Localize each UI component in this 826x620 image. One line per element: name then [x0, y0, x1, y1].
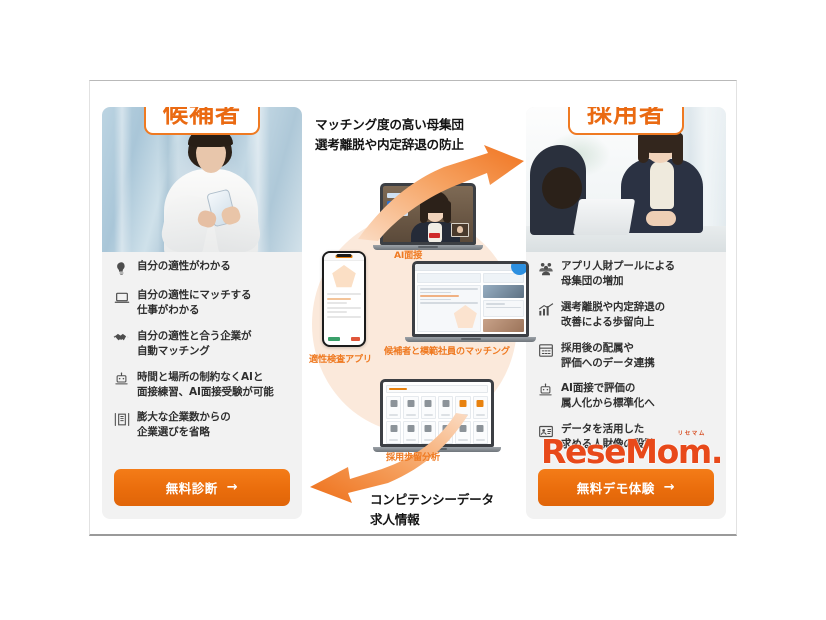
list-item: 選考離脱や内定辞退の 改善による歩留向上	[537, 300, 716, 330]
center-heading: マッチング度の高い母集団 選考離脱や内定辞退の防止	[315, 115, 464, 156]
text-line	[327, 307, 361, 309]
list-item: データを活用した 求める人財像の設計	[537, 422, 716, 452]
text-line	[420, 288, 478, 290]
app-secondary-button	[351, 337, 360, 341]
cta-label: 無料デモ体験	[577, 478, 655, 497]
photo-shape-hair-left	[638, 133, 649, 163]
photo-shape-candidate-head	[542, 167, 582, 209]
window-panel-icon	[537, 342, 554, 359]
radar-chart-shape	[454, 305, 477, 328]
list-item-text: 選考離脱や内定辞退の 改善による歩留向上	[561, 300, 665, 330]
caption-aptitude-app: 適性検査アプリ	[309, 351, 372, 365]
list-item: 膨大な企業数からの 企業選びを省略	[113, 410, 292, 440]
candidate-feature-list: 自分の適性がわかる 自分の適性にマッチする 仕事がわかる	[102, 259, 302, 451]
dashboard-thumbnail	[483, 319, 524, 332]
app-result-rows	[324, 291, 364, 323]
text-line	[327, 293, 361, 295]
dashboard-text-lines	[486, 303, 521, 310]
list-item-text: 自分の適性にマッチする 仕事がわかる	[137, 288, 251, 318]
robot-icon	[537, 382, 554, 399]
text-line	[327, 316, 361, 318]
text-line	[327, 311, 347, 313]
free-demo-button[interactable]: 無料デモ体験 →	[538, 469, 714, 506]
bar-chart-icon	[537, 301, 554, 318]
infographic-content-area: 候補者 自分の適性がわかる	[89, 80, 737, 536]
list-item-text: アプリ人財プールによる 母集団の増加	[561, 259, 675, 289]
center-footer-text: コンピテンシーデータ 求人情報	[370, 490, 494, 530]
head-profile-icon	[113, 260, 130, 277]
dashboard-search-bar	[386, 385, 488, 393]
laptop-base	[373, 245, 483, 250]
phone-frame	[322, 251, 366, 347]
caption-funnel-analytics: 採用歩留分析	[386, 449, 440, 463]
cta-label: 無料診断	[166, 478, 218, 497]
photo-shape-blouse	[650, 161, 674, 209]
candidate-chip-label: 候補者	[144, 107, 260, 135]
text-line	[420, 302, 478, 304]
free-diagnosis-button[interactable]: 無料診断 →	[114, 469, 290, 506]
arrow-right-icon: →	[664, 480, 675, 495]
list-item-text: 自分の適性と合う企業が 自動マッチング	[137, 329, 251, 359]
people-group-icon	[537, 260, 554, 277]
arrow-to-recruiter-icon	[348, 143, 526, 241]
list-item-text: 自分の適性がわかる	[137, 259, 231, 274]
list-item-text: 時間と場所の制約なくAIと 面接練習、AI面接受験が可能	[137, 370, 274, 400]
text-line	[420, 299, 451, 301]
screenshot-canvas: 候補者 自分の適性がわかる	[0, 0, 826, 620]
list-item: 自分の適性にマッチする 仕事がわかる	[113, 288, 292, 318]
list-item-text: AI面接で評価の 属人化から標準化へ	[561, 381, 655, 411]
list-item-text: 採用後の配属や 評価へのデータ連携	[561, 341, 655, 371]
phone-aptitude-app-mockup	[322, 251, 366, 347]
photo-shape-hands	[646, 211, 676, 226]
recruiter-chip-label: 採用者	[568, 107, 684, 135]
list-item-text: 膨大な企業数からの 企業選びを省略	[137, 410, 231, 440]
dashboard-text-lines	[420, 288, 478, 306]
laptop-matching-mockup	[412, 261, 529, 342]
caption-matching: 候補者と模範社員のマッチング	[384, 343, 510, 357]
photo-shape-hair-right	[672, 133, 683, 165]
matching-dashboard-content	[415, 264, 526, 334]
list-item: アプリ人財プールによる 母集団の増加	[537, 259, 716, 289]
list-item: 採用後の配属や 評価へのデータ連携	[537, 341, 716, 371]
caption-ai-interview: AI面接	[394, 247, 422, 261]
recruiter-feature-list: アプリ人財プールによる 母集団の増加 選考離脱や内定辞退の 改善による歩留向上	[526, 259, 726, 463]
dashboard-right-column	[483, 273, 524, 332]
text-line	[486, 307, 521, 309]
handshake-icon	[113, 330, 130, 347]
dashboard-card-profile	[417, 285, 481, 332]
list-item: 自分の適性がわかる	[113, 259, 292, 277]
dashboard-thumbnail	[483, 285, 524, 298]
list-item: AI面接で評価の 属人化から標準化へ	[537, 381, 716, 411]
text-line	[327, 302, 347, 304]
phone-notch	[337, 254, 352, 257]
center-diagram-column: マッチング度の高い母集団 選考離脱や内定辞退の防止	[308, 93, 526, 531]
list-item: 時間と場所の制約なくAIと 面接練習、AI面接受験が可能	[113, 370, 292, 400]
app-primary-button	[328, 337, 340, 341]
text-line-highlight	[420, 295, 459, 297]
arrow-right-icon: →	[227, 480, 238, 495]
radar-chart-shape	[332, 265, 356, 288]
photo-shape-laptop	[573, 199, 635, 235]
dashboard-topbar	[415, 264, 526, 271]
dashboard-left-column	[417, 273, 481, 332]
text-line	[420, 292, 451, 294]
text-line-highlight	[327, 298, 351, 300]
dashboard-card-list	[483, 300, 524, 317]
id-card-icon	[537, 423, 554, 440]
laptop-screen	[412, 261, 529, 337]
building-list-icon	[113, 411, 130, 428]
dashboard-body	[415, 271, 526, 334]
list-item-text: データを活用した 求める人財像の設計	[561, 422, 655, 452]
robot-icon	[113, 371, 130, 388]
laptop-base	[405, 337, 536, 342]
laptop-icon	[113, 289, 130, 306]
text-line	[486, 303, 505, 305]
dashboard-card-header	[417, 273, 481, 283]
app-radar-chart-area	[324, 261, 364, 291]
list-item: 自分の適性と合う企業が 自動マッチング	[113, 329, 292, 359]
recruiter-panel: 採用者 アプリ人財プールによる 母集団の増加	[526, 107, 726, 519]
candidate-panel: 候補者 自分の適性がわかる	[102, 107, 302, 519]
